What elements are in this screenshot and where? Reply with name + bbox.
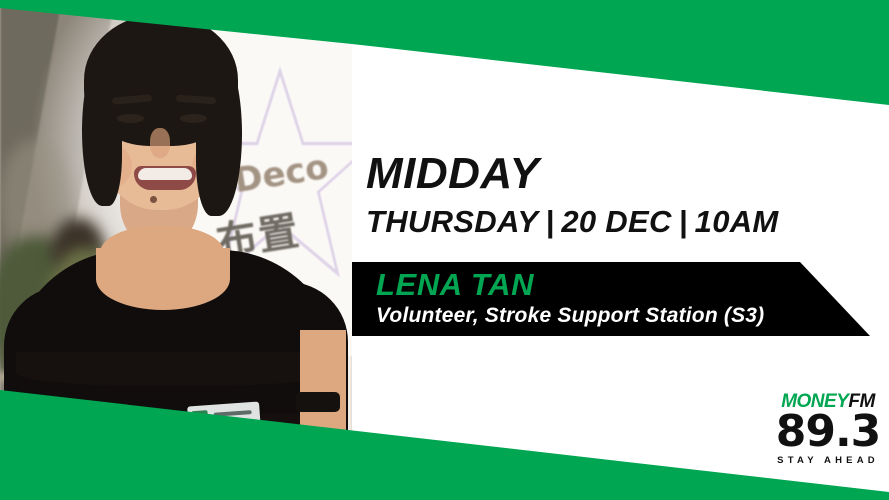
schedule-line: THURSDAY|20 DEC|10AM: [366, 206, 779, 237]
wrist-watch: [296, 392, 340, 412]
logo-tagline: STAY AHEAD: [775, 455, 881, 466]
promo-card: Deco 布置 MID: [0, 0, 889, 500]
headline-block: MIDDAY THURSDAY|20 DEC|10AM: [366, 152, 779, 237]
schedule-day: THURSDAY: [366, 204, 538, 239]
nose: [150, 128, 170, 158]
blouse-ruffle-1: [16, 352, 332, 386]
teeth: [138, 168, 192, 180]
hair-side-left: [82, 56, 122, 206]
person-neckline: [96, 248, 230, 310]
guest-role: Volunteer, Stroke Support Station (S3): [376, 304, 764, 328]
show-title: MIDDAY: [366, 152, 779, 196]
schedule-time: 10AM: [695, 204, 779, 239]
schedule-date: 20 DEC: [561, 204, 671, 239]
hair-side-right: [196, 52, 242, 216]
chin-mole: [150, 196, 157, 203]
guest-banner: LENA TAN Volunteer, Stroke Support Stati…: [352, 262, 872, 336]
guest-name: LENA TAN: [376, 267, 534, 303]
eye-left: [117, 114, 144, 123]
eye-right: [180, 114, 207, 123]
schedule-separator-1: |: [538, 204, 561, 239]
schedule-separator-2: |: [672, 204, 695, 239]
logo-frequency: 89.3: [775, 411, 881, 453]
station-logo: MONEYFM 89.3 STAY AHEAD: [775, 392, 881, 466]
